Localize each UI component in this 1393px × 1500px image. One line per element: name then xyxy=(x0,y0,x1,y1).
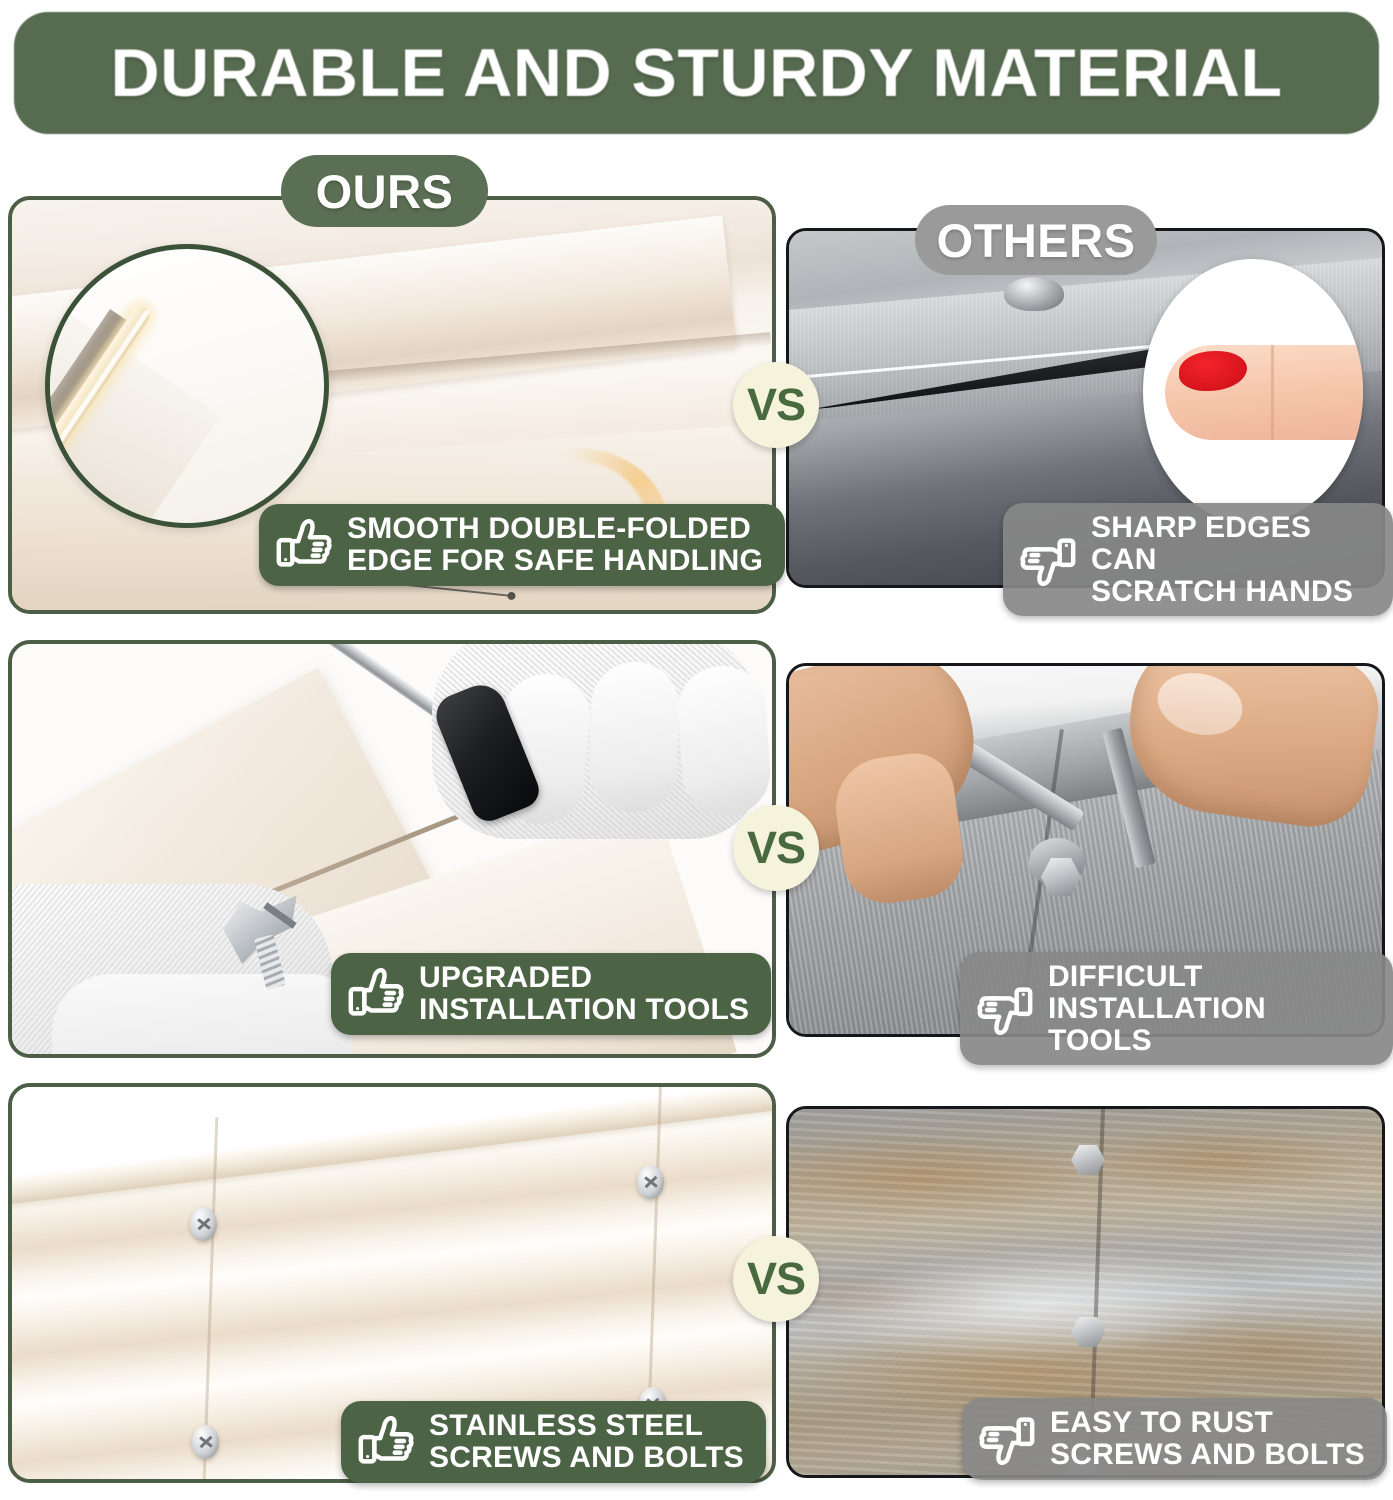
magnifier-inset-folded-edge xyxy=(45,244,329,528)
magnifier-inset-bleeding-finger xyxy=(1143,259,1363,524)
thumbs-down-icon xyxy=(1017,529,1079,591)
caption-others-2: DIFFICULT INSTALLATION TOOLS xyxy=(960,952,1393,1065)
page-title: DURABLE AND STURDY MATERIAL xyxy=(111,34,1283,112)
thumbs-down-icon xyxy=(976,1408,1038,1470)
caption-text: SMOOTH DOUBLE-FOLDED EDGE FOR SAFE HANDL… xyxy=(347,513,763,577)
stainless-screw xyxy=(192,1425,219,1459)
vs-badge-row-2: VS xyxy=(733,805,819,891)
caption-ours-3: STAINLESS STEEL SCREWS AND BOLTS xyxy=(341,1401,766,1483)
caption-ours-1: SMOOTH DOUBLE-FOLDED EDGE FOR SAFE HANDL… xyxy=(259,504,785,586)
stainless-screw xyxy=(190,1207,217,1241)
thumbs-down-icon xyxy=(974,978,1036,1040)
section-badge-ours: OURS xyxy=(281,155,488,227)
caption-text: EASY TO RUST SCREWS AND BOLTS xyxy=(1050,1407,1365,1471)
caption-ours-2: UPGRADED INSTALLATION TOOLS xyxy=(331,953,771,1035)
thumbs-up-icon xyxy=(273,514,335,576)
caption-text: UPGRADED INSTALLATION TOOLS xyxy=(419,962,749,1026)
section-badge-others: OTHERS xyxy=(915,205,1157,275)
thumbs-up-icon xyxy=(345,963,407,1025)
caption-text: DIFFICULT INSTALLATION TOOLS xyxy=(1048,961,1371,1056)
caption-text: STAINLESS STEEL SCREWS AND BOLTS xyxy=(429,1410,744,1474)
caption-text: SHARP EDGES CAN SCRATCH HANDS xyxy=(1091,512,1371,607)
caption-others-1: SHARP EDGES CAN SCRATCH HANDS xyxy=(1003,503,1393,616)
vs-badge-row-1: VS xyxy=(733,362,819,448)
caption-others-3: EASY TO RUST SCREWS AND BOLTS xyxy=(962,1398,1387,1480)
stainless-screw xyxy=(637,1165,664,1199)
thumbs-up-icon xyxy=(355,1411,417,1473)
vs-badge-row-3: VS xyxy=(733,1236,819,1322)
page-title-banner: DURABLE AND STURDY MATERIAL xyxy=(14,12,1379,134)
